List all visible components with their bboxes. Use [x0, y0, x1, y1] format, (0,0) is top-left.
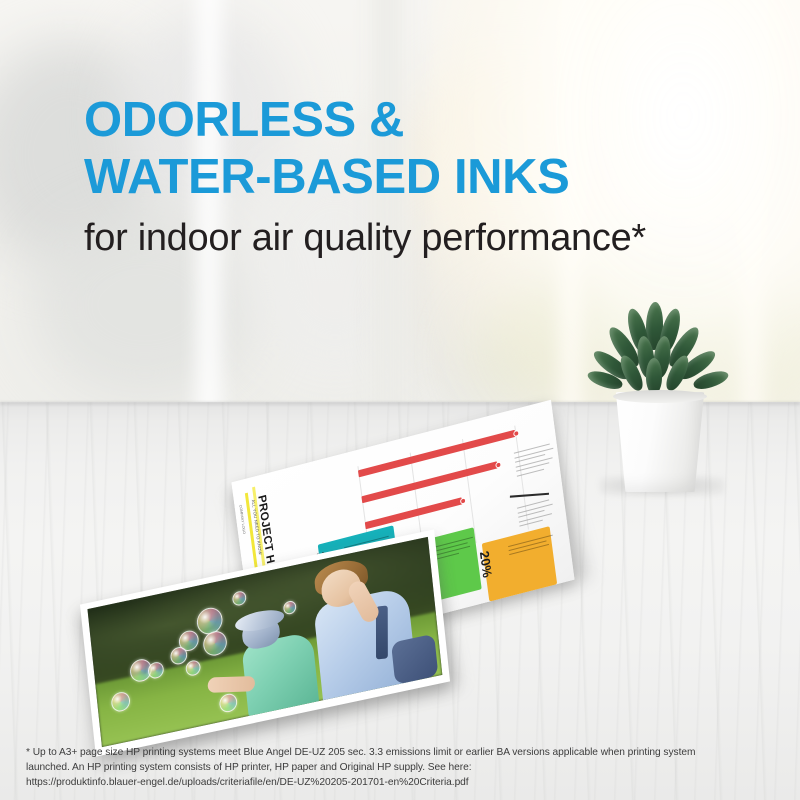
brochure-body-text: [517, 498, 557, 530]
headline-line-1: ODORLESS &: [84, 92, 764, 149]
chart-bar: [365, 497, 463, 529]
marketing-image: ODORLESS & WATER-BASED INKS for indoor a…: [0, 0, 800, 800]
footnote-line-1: * Up to A3+ page size HP printing system…: [26, 745, 780, 760]
chart-bar-dot: [460, 497, 467, 504]
photo-child-boy-arm: [207, 676, 255, 693]
succulent-plant: [596, 300, 728, 492]
chart-bar-dot: [495, 461, 502, 468]
headline-line-2: WATER-BASED INKS: [84, 149, 764, 206]
highlight-card-text-lines: [508, 535, 554, 559]
highlight-card-percent: 20%: [477, 549, 495, 579]
brochure-body-text: [514, 443, 556, 480]
chart-bar-dot: [513, 430, 520, 437]
subheadline: for indoor air quality performance*: [84, 216, 764, 260]
brochure-divider-rule: [510, 493, 549, 498]
footnote-block: * Up to A3+ page size HP printing system…: [26, 745, 780, 790]
headline-block: ODORLESS & WATER-BASED INKS for indoor a…: [84, 92, 764, 260]
pot-rim: [613, 390, 707, 403]
footnote-line-3: https://produktinfo.blauer-engel.de/uplo…: [26, 775, 780, 790]
brochure-logo-text: COMPANY LOGO: [238, 504, 246, 534]
plant-leaf: [646, 358, 662, 394]
ceramic-pot: [612, 392, 708, 492]
footnote-line-2: launched. An HP printing system consists…: [26, 760, 780, 775]
